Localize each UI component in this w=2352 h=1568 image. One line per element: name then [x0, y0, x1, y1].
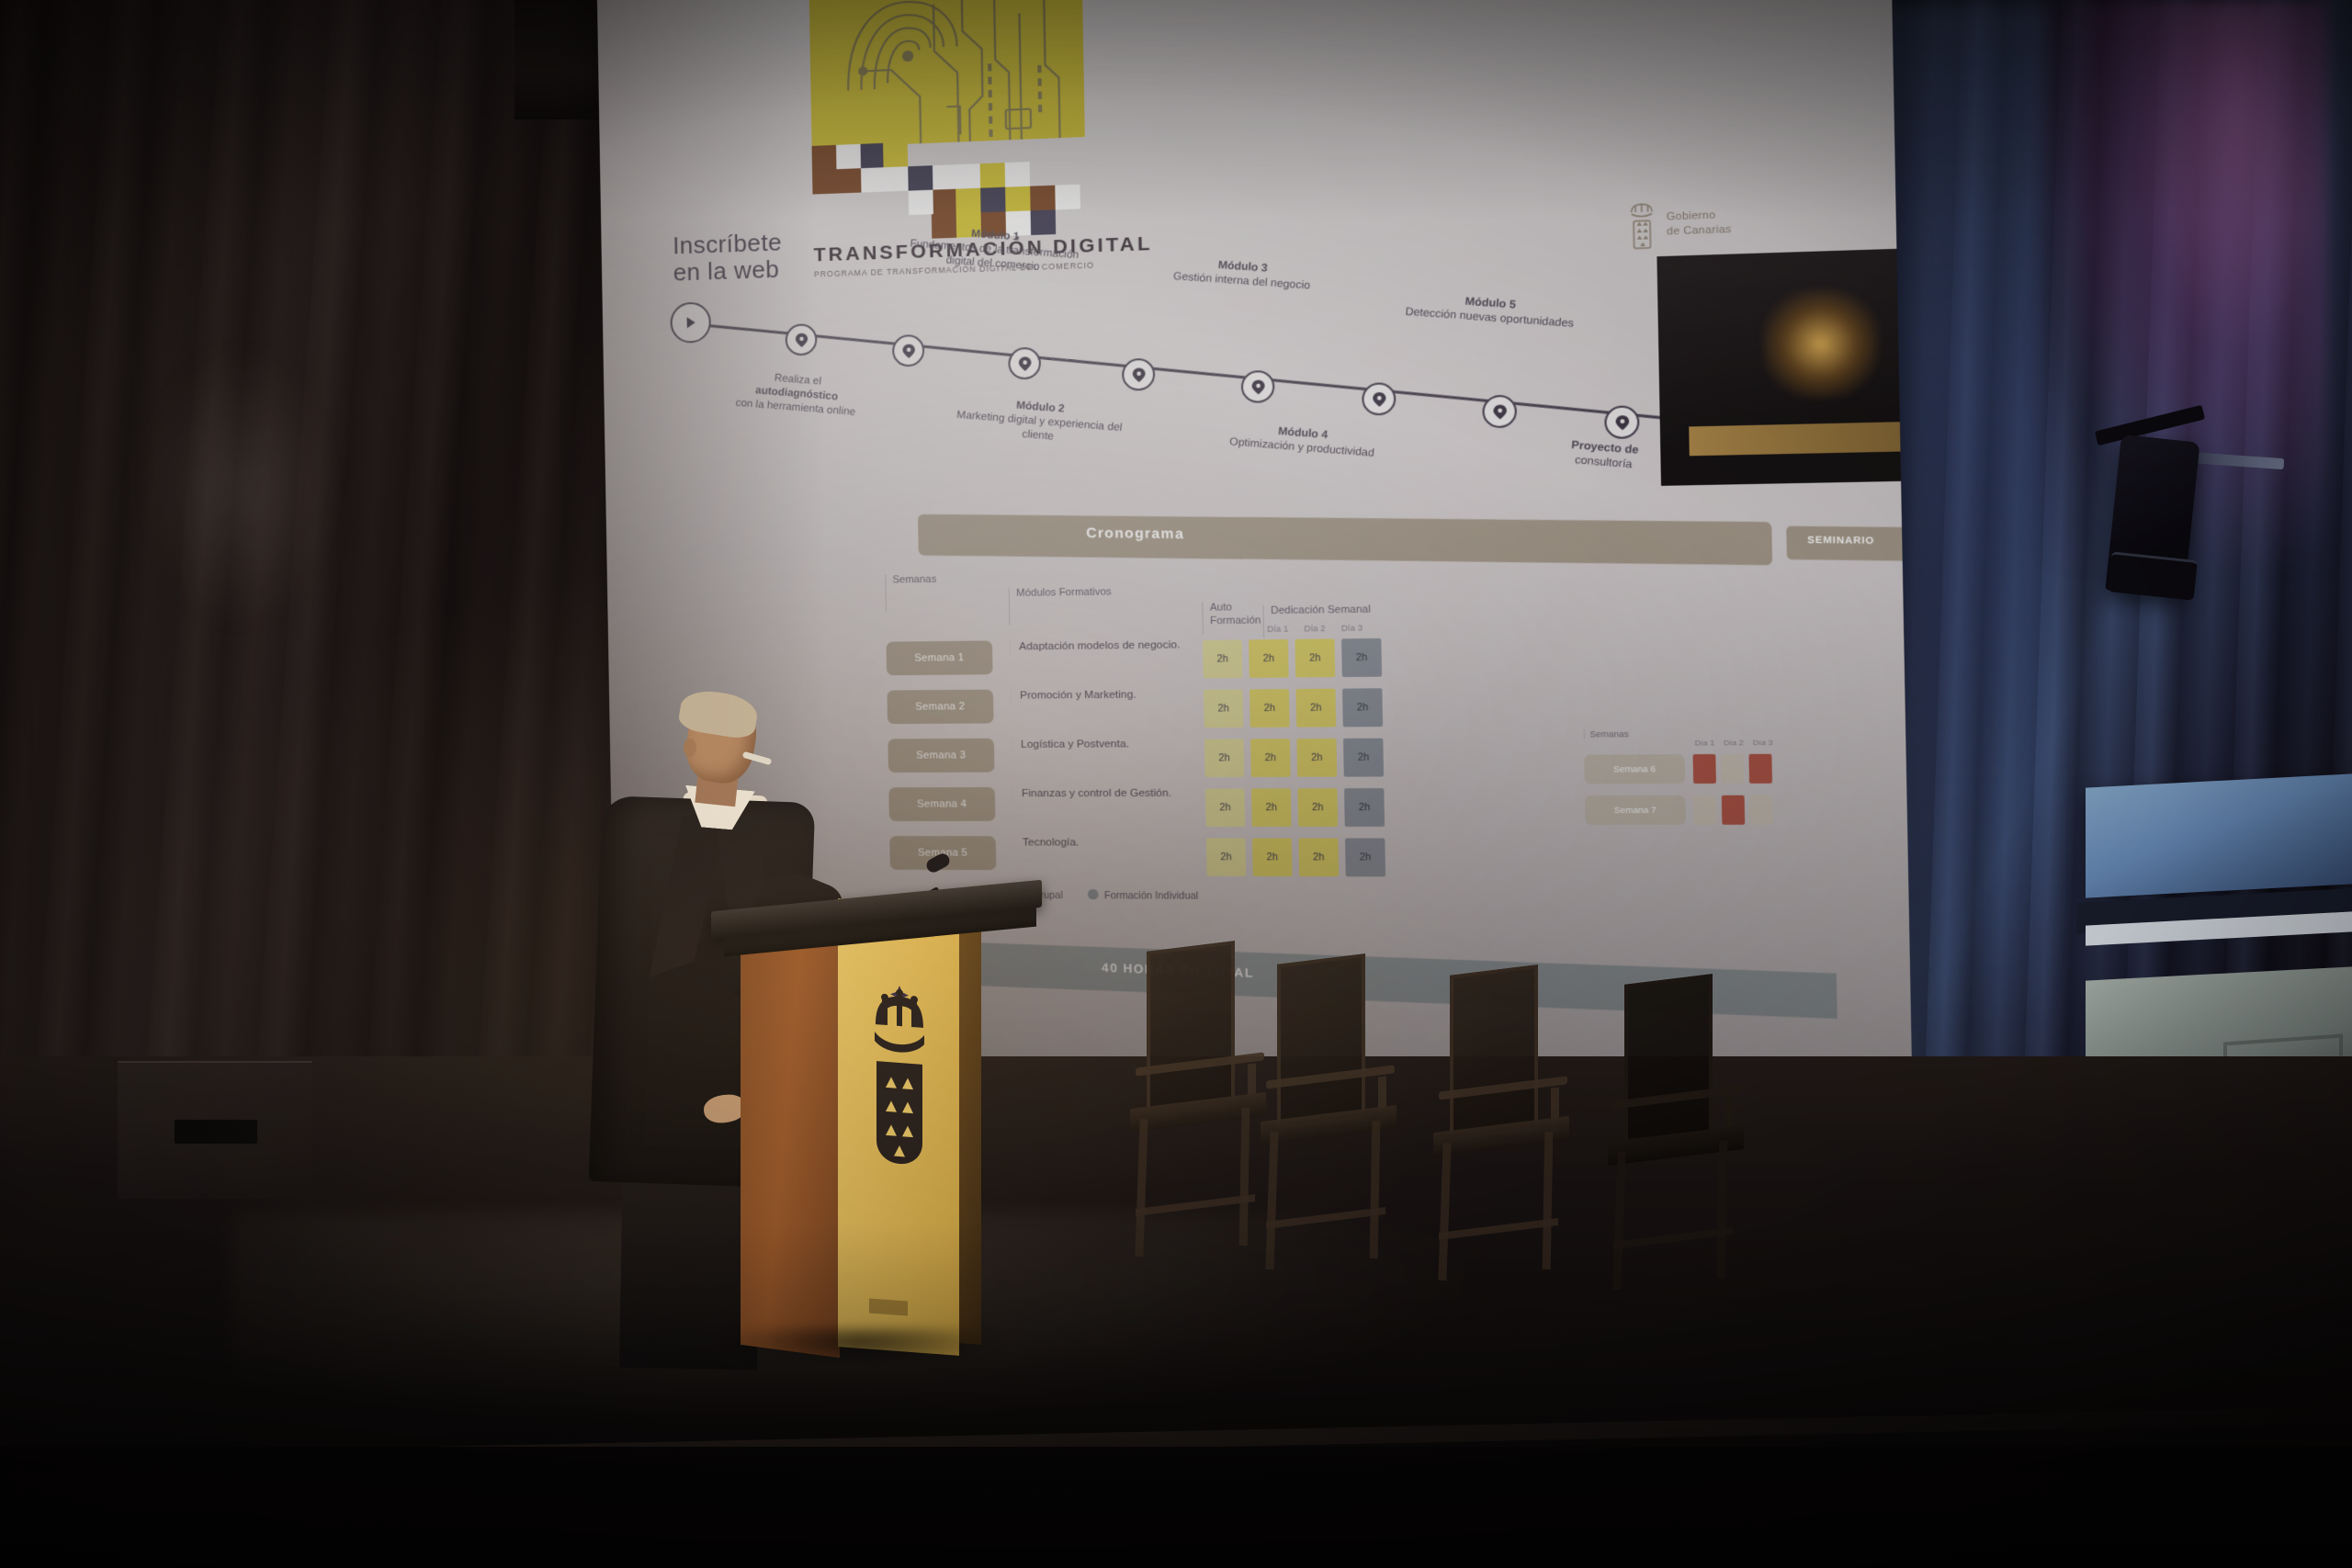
left-wall-fixture: [118, 1061, 312, 1199]
timeline-label-autodiagnostico: Realiza el autodiagnóstico con la herram…: [707, 367, 888, 423]
chair-back: [1277, 953, 1365, 1130]
chair-leg: [1438, 1143, 1451, 1280]
module-name: Logística y Postventa.: [1012, 738, 1185, 752]
timeline-node-1: [785, 323, 817, 355]
logo-circuit-art: [808, 0, 1084, 148]
timeline-node-7: [1482, 395, 1517, 429]
cell-day2: 2h: [1295, 638, 1335, 677]
hours-cells: 2h 2h 2h 2h: [1206, 838, 1385, 876]
cta-line2: en la web: [673, 256, 782, 287]
timeline-node-6: [1362, 382, 1396, 415]
week-badge: Semana 1: [886, 640, 992, 675]
timeline-node-play: [670, 301, 711, 344]
lectern-emblem: [860, 981, 939, 1170]
side-table-row: Semana 7: [1585, 795, 1803, 837]
stage-photo: TRANSFORMACIÓN DIGITAL PROGRAMA DE TRANS…: [0, 0, 2352, 1568]
module-name: Finanzas y control de Gestión.: [1012, 787, 1185, 802]
map-pin-icon: [1251, 379, 1264, 394]
lectern-base-shadow: [724, 1327, 1000, 1364]
timeline-label-modulo-5: Módulo 5 Detección nuevas oportunidades: [1394, 290, 1588, 333]
table-row: Semana 1 Adaptación modelos de negocio. …: [886, 634, 1572, 690]
side-week-badge: Semana 6: [1584, 754, 1685, 784]
cell-day1: 2h: [1249, 639, 1289, 678]
chair-rail: [1613, 1227, 1733, 1249]
lectern-notch: [869, 1298, 908, 1315]
col-header-semanas: Semanas: [885, 574, 937, 612]
cell-day1: 2h: [1251, 788, 1292, 827]
gobierno-line2: de Canarias: [1667, 222, 1732, 239]
timeline-label-modulo-3: Módulo 3 Gestión interna del negocio: [1148, 254, 1337, 296]
hours-cells: 2h 2h 2h 2h: [1203, 638, 1382, 679]
cell-day2: 2h: [1296, 739, 1337, 777]
week-badge: Semana 2: [887, 690, 993, 725]
cell-day2: 2h: [1298, 838, 1339, 876]
cell-auto-formacion: 2h: [1206, 838, 1246, 876]
left-soft-light: [147, 349, 331, 625]
seminario-band: SEMINARIO: [1786, 526, 1912, 561]
cell-auto-formacion: 2h: [1204, 689, 1243, 728]
side-cells: [1693, 795, 1772, 825]
side-cell: [1693, 795, 1716, 825]
module-name: Tecnología.: [1012, 836, 1186, 851]
cell-day3: 2h: [1341, 638, 1382, 677]
cronograma-table: Semanas Módulos Formativos Auto Formació…: [885, 560, 1577, 886]
inscribete-cta: Inscríbete en la web: [673, 229, 783, 287]
slide-inset-video: [1657, 246, 1912, 486]
cell-auto-formacion: 2h: [1203, 640, 1242, 679]
table-row: Semana 4 Finanzas y control de Gestión. …: [888, 786, 1575, 837]
map-pin-icon: [1018, 356, 1031, 371]
chair-leg: [1543, 1132, 1554, 1269]
module-name: Adaptación modelos de negocio.: [1010, 638, 1183, 654]
hours-cells: 2h 2h 2h 2h: [1204, 739, 1384, 777]
col-header-auto-formacion: Auto Formación: [1202, 602, 1249, 635]
cell-auto-formacion: 2h: [1205, 788, 1245, 827]
right-panel-upper: [2086, 773, 2352, 897]
table-header: Semanas Módulos Formativos Auto Formació…: [885, 560, 1572, 642]
cell-day1: 2h: [1249, 689, 1290, 728]
side-table-header: Semanas Día 1 Día 2 Día 3: [1584, 724, 1802, 754]
chair-rail: [1439, 1218, 1558, 1240]
hours-cells: 2h 2h 2h 2h: [1205, 788, 1385, 827]
timeline-node-8: [1604, 405, 1640, 439]
timeline-label-modulo-2: Módulo 2 Marketing digital y experiencia…: [947, 394, 1133, 451]
week-badge: Semana 4: [888, 787, 995, 821]
stage-chairs: [1130, 946, 1792, 1314]
day-header-1: Día 1: [1267, 624, 1288, 634]
side-table-row: Semana 6: [1584, 754, 1802, 795]
day-headers: Día 1 Día 2 Día 3: [1267, 623, 1363, 634]
side-cell: [1721, 754, 1744, 784]
inset-video-glow: [1762, 288, 1880, 399]
table-row: Semana 5 Tecnología. 2h 2h 2h 2h: [889, 836, 1576, 886]
chair-leg: [1239, 1108, 1250, 1246]
cell-day2: 2h: [1297, 788, 1338, 827]
lectern-left-face: [741, 922, 840, 1358]
legend-label-individual: Formación Individual: [1104, 890, 1199, 902]
map-pin-icon: [1132, 367, 1145, 382]
cell-day2: 2h: [1295, 689, 1336, 728]
col-header-modulos: Módulos Formativos: [1009, 586, 1113, 626]
side-cell: [1748, 754, 1772, 784]
lectern: [788, 896, 1027, 1373]
side-day-header-2: Día 2: [1724, 739, 1744, 748]
chair: [1130, 946, 1268, 1249]
timeline-node-5: [1241, 370, 1275, 403]
cronograma-side-table: Semanas Día 1 Día 2 Día 3 Semana 6 Seman…: [1584, 724, 1803, 836]
play-icon: [684, 316, 697, 329]
speaker-ear: [684, 739, 696, 757]
seminario-title: SEMINARIO: [1807, 536, 1874, 547]
map-pin-icon: [902, 344, 915, 358]
timeline-label-modulo-4: Módulo 4 Optimización y productividad: [1208, 420, 1397, 464]
chair: [1608, 979, 1746, 1282]
timeline-node-2: [892, 334, 925, 367]
chair-back: [1147, 941, 1235, 1117]
label-proj-rest: consultoría: [1575, 455, 1634, 471]
timeline-node-4: [1122, 358, 1156, 391]
module-name: Promoción y Marketing.: [1011, 688, 1184, 704]
side-day-header-3: Día 3: [1753, 739, 1773, 748]
chair: [1433, 970, 1571, 1273]
week-badge: Semana 3: [888, 739, 994, 773]
day-header-2: Día 2: [1304, 624, 1325, 634]
table-row: Semana 3 Logística y Postventa. 2h 2h 2h…: [888, 735, 1574, 787]
chair-leg: [1612, 1152, 1625, 1290]
map-pin-icon: [1373, 391, 1385, 406]
chair-rail: [1136, 1194, 1255, 1216]
cronograma-title: Cronograma: [1086, 525, 1184, 543]
stage-apron: [0, 1447, 2352, 1568]
stage-spotlight-fixture: [2086, 418, 2233, 629]
side-day-header-1: Día 1: [1694, 739, 1714, 748]
chair-leg: [1135, 1119, 1148, 1257]
table-row: Semana 2 Promoción y Marketing. 2h 2h 2h…: [887, 684, 1573, 739]
cell-day3: 2h: [1342, 688, 1383, 727]
side-cell: [1693, 754, 1716, 784]
chair-rail: [1266, 1207, 1385, 1229]
lectern-side: [957, 911, 981, 1345]
cell-day1: 2h: [1250, 739, 1291, 777]
chair-back: [1624, 974, 1713, 1150]
inset-video-bar: [1689, 422, 1912, 457]
chair-leg: [1717, 1141, 1728, 1279]
canary-coat-of-arms-icon: [1625, 200, 1659, 252]
gobierno-label: Gobierno de Canarias: [1667, 209, 1732, 240]
side-cell: [1722, 795, 1745, 825]
chair-leg: [1370, 1121, 1381, 1258]
map-pin-icon: [1493, 404, 1507, 419]
spotlight-lens-ring: [2108, 551, 2198, 601]
side-col-header-semanas: Semanas: [1584, 729, 1629, 739]
gobierno-de-canarias-logo: Gobierno de Canarias: [1625, 197, 1732, 252]
map-pin-icon: [795, 333, 807, 347]
legend-item-individual: Formación Individual: [1088, 889, 1198, 902]
chair: [1261, 959, 1398, 1262]
cell-day3: 2h: [1345, 838, 1385, 876]
legend-swatch-individual: [1088, 889, 1099, 899]
cell-day3: 2h: [1344, 788, 1385, 827]
label-autodiag-pre: Realiza el: [774, 373, 821, 388]
left-wall-fixture-vent: [175, 1120, 257, 1144]
side-cells: [1693, 754, 1772, 784]
day-header-3: Día 3: [1341, 623, 1363, 633]
chair-leg: [1265, 1132, 1278, 1269]
side-cell: [1749, 795, 1773, 825]
canary-islands-coat-of-arms-icon: [860, 981, 939, 1170]
chair-back: [1450, 964, 1538, 1141]
cell-day3: 2h: [1343, 739, 1384, 777]
cell-auto-formacion: 2h: [1204, 739, 1244, 777]
side-week-badge: Semana 7: [1585, 795, 1686, 825]
hours-cells: 2h 2h 2h 2h: [1204, 688, 1383, 728]
map-pin-icon: [1615, 415, 1629, 430]
cell-day1: 2h: [1252, 838, 1293, 876]
timeline-node-3: [1008, 347, 1041, 380]
